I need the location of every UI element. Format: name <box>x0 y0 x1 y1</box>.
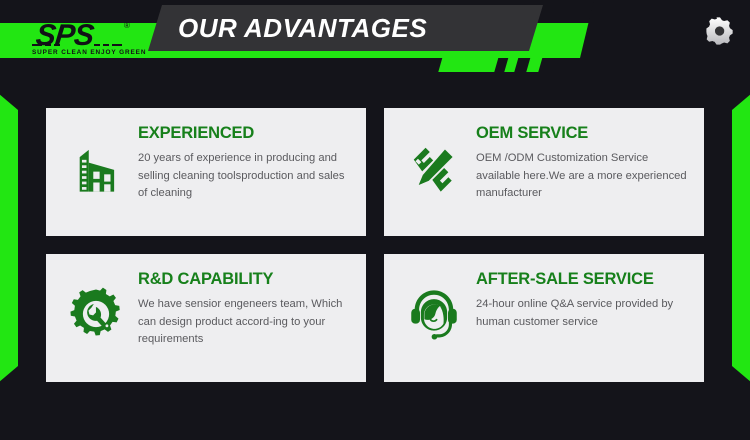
card-title: R&D CAPABILITY <box>138 270 354 289</box>
registered-mark: ® <box>124 21 130 30</box>
gear-icon[interactable] <box>704 15 736 47</box>
card-description: 24-hour online Q&A service provided by h… <box>476 296 692 331</box>
left-accent-bar <box>0 88 18 388</box>
right-accent-bar <box>732 88 750 388</box>
card-body: OEM SERVICE OEM /ODM Customization Servi… <box>472 122 692 203</box>
card-description: 20 years of experience in producing and … <box>138 150 354 203</box>
card-description: We have sensior engeneers team, Which ca… <box>138 296 354 349</box>
card-title: OEM SERVICE <box>476 124 692 143</box>
pencil-ruler-icon <box>396 130 472 206</box>
accent-stripes <box>440 58 570 72</box>
brand-logo[interactable]: SPS ® SUPER CLEAN ENJOY GREEN <box>28 19 146 61</box>
advantage-card-grid: EXPERIENCED 20 years of experience in pr… <box>46 108 704 386</box>
card-description: OEM /ODM Customization Service available… <box>476 150 692 203</box>
page-title: OUR ADVANTAGES <box>178 13 427 44</box>
card-body: EXPERIENCED 20 years of experience in pr… <box>134 122 354 203</box>
header: OUR ADVANTAGES SPS ® SUPER CLEAN ENJOY G… <box>0 0 750 72</box>
logo-dash-accents <box>32 44 144 48</box>
advantage-card-after-sale-service[interactable]: AFTER-SALE SERVICE 24-hour online Q&A se… <box>384 254 704 382</box>
factory-building-icon <box>58 130 134 206</box>
advantage-card-oem-service[interactable]: OEM SERVICE OEM /ODM Customization Servi… <box>384 108 704 236</box>
card-title: AFTER-SALE SERVICE <box>476 270 692 289</box>
gear-wrench-icon <box>58 276 134 352</box>
logo-tagline: SUPER CLEAN ENJOY GREEN <box>32 49 144 56</box>
headset-agent-icon <box>396 276 472 352</box>
advantage-card-rd-capability[interactable]: R&D CAPABILITY We have sensior engeneers… <box>46 254 366 382</box>
card-body: AFTER-SALE SERVICE 24-hour online Q&A se… <box>472 268 692 331</box>
advantage-card-experienced[interactable]: EXPERIENCED 20 years of experience in pr… <box>46 108 366 236</box>
card-title: EXPERIENCED <box>138 124 354 143</box>
advantages-banner: OUR ADVANTAGES SPS ® SUPER CLEAN ENJOY G… <box>0 0 750 440</box>
card-body: R&D CAPABILITY We have sensior engeneers… <box>134 268 354 349</box>
